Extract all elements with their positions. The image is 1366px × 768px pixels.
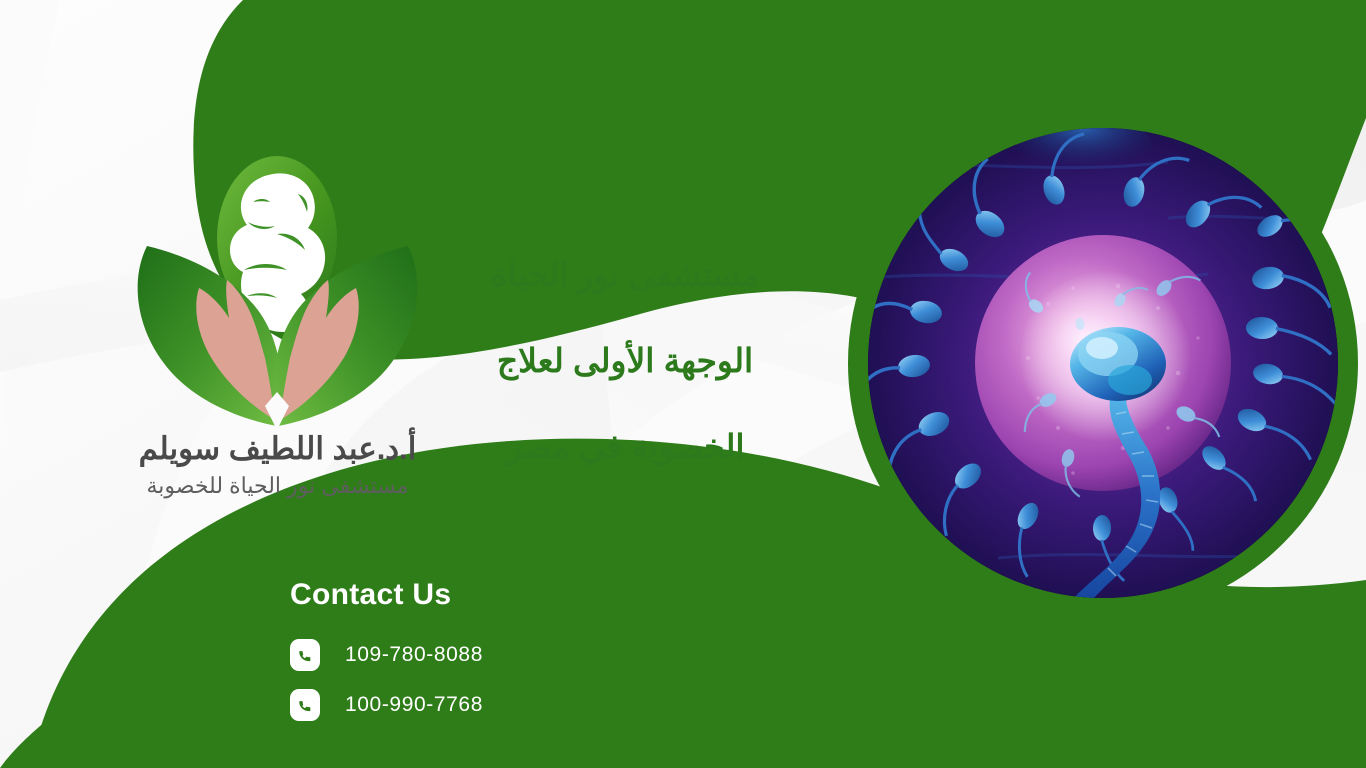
contact-section: Contact Us 109-780-8088 100-990-7768 [290,578,710,739]
sperm-fertilizing-ovum-illustration [868,128,1338,598]
contact-number[interactable]: 109-780-8088 [345,643,483,667]
contact-row[interactable]: 109-780-8088 [290,639,710,671]
phone-icon [290,689,320,721]
fetus-in-leaves-logo-icon [105,130,450,440]
headline-line-3: الخصوبة في مصر [420,404,830,490]
contact-number[interactable]: 100-990-7768 [345,693,483,717]
contact-row[interactable]: 100-990-7768 [290,689,710,721]
fertilization-photo [868,128,1338,598]
phone-icon [290,639,320,671]
headline: مستشفى نور الحياة الوجهة الأولى لعلاج ال… [420,232,830,490]
logo-hospital-subtitle: مستشفى نور الحياة للخصوبة [105,469,450,502]
headline-line-2: الوجهة الأولى لعلاج [420,318,830,404]
fertility-hospital-banner: أ.د.عبد اللطيف سويلم مستشفى نور الحياة ل… [0,0,1366,768]
logo-doctor-name: أ.د.عبد اللطيف سويلم [105,430,450,467]
contact-title: Contact Us [290,578,710,612]
fertilization-photo-frame [848,108,1358,618]
headline-line-1: مستشفى نور الحياة [420,232,830,318]
logo-wordmark: أ.د.عبد اللطيف سويلم مستشفى نور الحياة ل… [105,430,450,502]
hospital-logo: أ.د.عبد اللطيف سويلم مستشفى نور الحياة ل… [105,130,450,530]
